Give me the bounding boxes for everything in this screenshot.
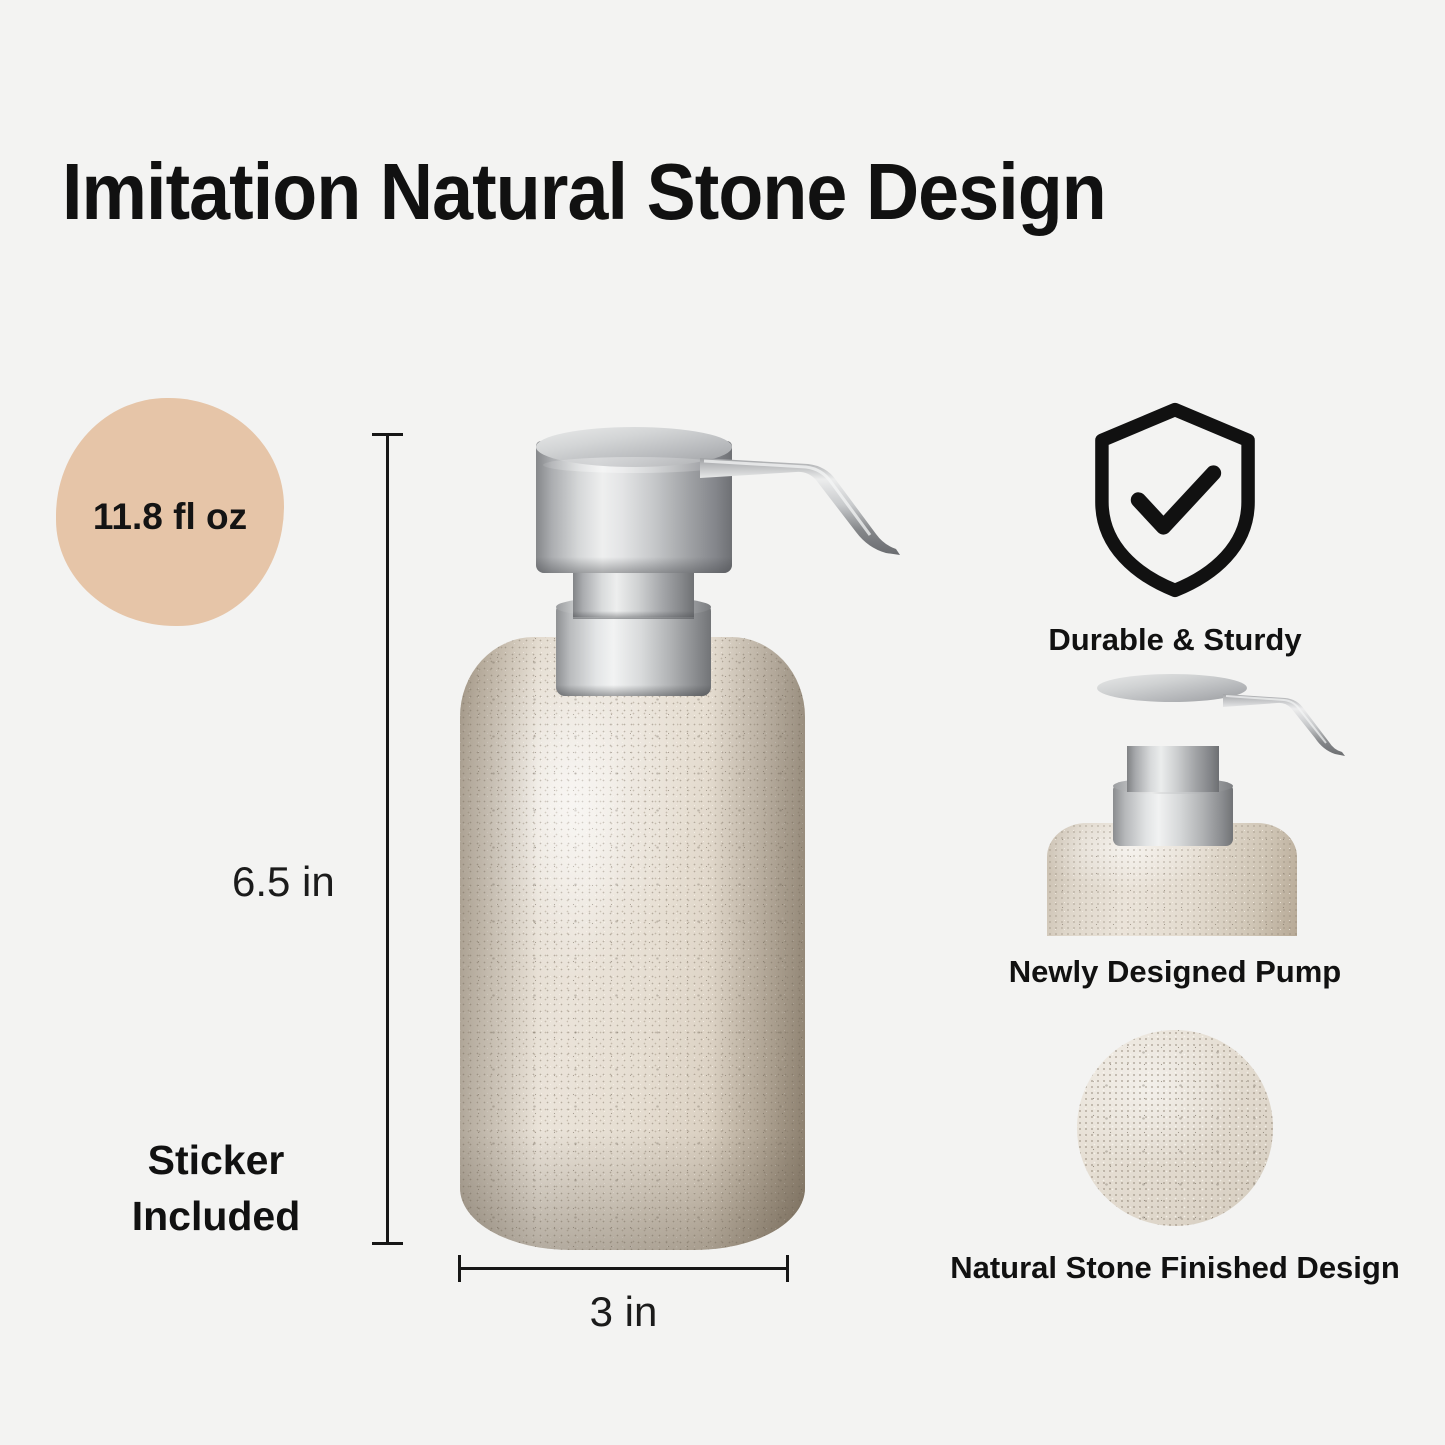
pump-head-cap-rim xyxy=(543,457,725,473)
sticker-included-note: Sticker Included xyxy=(96,1133,336,1245)
width-dimension-line xyxy=(458,1267,789,1270)
feature-label-durable-sturdy: Durable & Sturdy xyxy=(945,622,1405,658)
mini-pump-spout xyxy=(1223,690,1345,760)
swatch-speckle-layer-coarse xyxy=(1077,1030,1273,1226)
height-dimension-line xyxy=(386,433,389,1245)
sticker-note-line-2: Included xyxy=(96,1189,336,1245)
volume-badge: 11.8 fl oz xyxy=(56,398,284,626)
feature-natural-stone-finish: Natural Stone Finished Design xyxy=(945,1030,1405,1286)
pump-spout xyxy=(700,452,930,562)
shield-check-icon xyxy=(1077,400,1273,600)
feature-icon-wrap xyxy=(945,400,1405,600)
product-image-soap-dispenser xyxy=(420,415,930,1250)
feature-icon-wrap xyxy=(945,1030,1405,1226)
width-dimension-label: 3 in xyxy=(458,1288,789,1336)
pump-closeup-image xyxy=(1005,668,1345,936)
feature-newly-designed-pump: Newly Designed Pump xyxy=(945,668,1405,990)
feature-durable-sturdy: Durable & Sturdy xyxy=(945,400,1405,658)
volume-badge-label: 11.8 fl oz xyxy=(56,496,284,538)
bottle-bottom-shading xyxy=(460,1130,805,1250)
bottle-highlight xyxy=(518,663,636,963)
dispenser-bottle-body xyxy=(460,637,805,1250)
page-title: Imitation Natural Stone Design xyxy=(62,152,1295,232)
feature-label-natural-stone-finish: Natural Stone Finished Design xyxy=(945,1250,1405,1286)
stone-texture-swatch xyxy=(1077,1030,1273,1226)
feature-label-newly-designed-pump: Newly Designed Pump xyxy=(945,954,1405,990)
infographic-page: Imitation Natural Stone Design 11.8 fl o… xyxy=(0,0,1445,1445)
sticker-note-line-1: Sticker xyxy=(96,1133,336,1189)
height-dimension-label: 6.5 in xyxy=(232,858,335,906)
